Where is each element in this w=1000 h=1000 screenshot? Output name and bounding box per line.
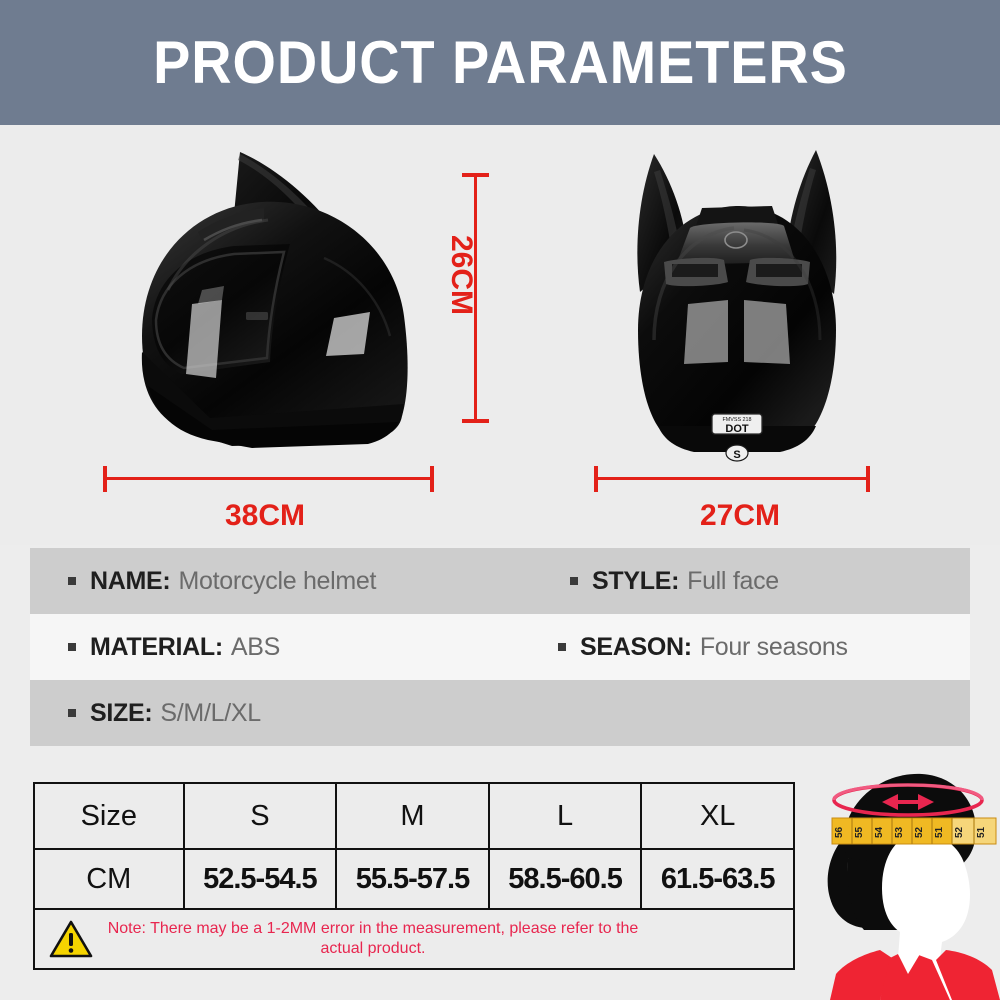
dimension-width-rear-label: 27CM — [700, 499, 780, 533]
spec-item-size: SIZE: S/M/L/XL — [68, 699, 261, 728]
spec-item-material: MATERIAL: ABS — [68, 633, 280, 662]
bullet-icon — [570, 577, 578, 585]
measurement-note-text: Note: There may be a 1-2MM error in the … — [93, 919, 793, 959]
spec-value-style: Full face — [687, 567, 779, 596]
table-row-note: Note: There may be a 1-2MM error in the … — [34, 909, 794, 969]
table-cell-size-s: S — [184, 783, 337, 849]
table-cell-size-l: L — [489, 783, 642, 849]
measuring-tape: 56 55 54 53 52 51 52 51 — [832, 818, 996, 844]
table-cell-size-m: M — [336, 783, 489, 849]
table-cell-note: Note: There may be a 1-2MM error in the … — [34, 909, 794, 969]
table-cell-cm-label: CM — [34, 849, 184, 909]
table-cell-size-label: Size — [34, 783, 184, 849]
spec-value-material: ABS — [231, 633, 280, 662]
bullet-icon — [558, 643, 566, 651]
table-row-measurements: CM 52.5-54.5 55.5-57.5 58.5-60.5 61.5-63… — [34, 849, 794, 909]
spec-row-1: NAME: Motorcycle helmet STYLE: Full face — [30, 548, 970, 614]
svg-text:52: 52 — [954, 826, 965, 838]
spec-item-name: NAME: Motorcycle helmet — [68, 567, 376, 596]
helmet-pad-right — [744, 300, 790, 364]
spec-item-style: STYLE: Full face — [570, 567, 779, 596]
spec-value-name: Motorcycle helmet — [178, 567, 376, 596]
svg-text:54: 54 — [874, 826, 885, 838]
product-image-area: FMVSS 218 DOT S 26CM 38CM 27CM — [0, 125, 1000, 545]
bullet-icon — [68, 577, 76, 585]
spec-value-size: S/M/L/XL — [160, 699, 260, 728]
spec-row-2: MATERIAL: ABS SEASON: Four seasons — [30, 614, 970, 680]
svg-text:51: 51 — [976, 826, 987, 838]
svg-text:DOT: DOT — [725, 423, 749, 435]
spec-key-style: STYLE: — [592, 567, 679, 596]
table-row-header: Size S M L XL — [34, 783, 794, 849]
bullet-icon — [68, 709, 76, 717]
svg-text:55: 55 — [854, 826, 865, 838]
header-bar: PRODUCT PARAMETERS — [0, 0, 1000, 125]
page-title: PRODUCT PARAMETERS — [153, 28, 848, 97]
motorcycle-helmet-side-view — [112, 140, 432, 470]
spec-row-3: SIZE: S/M/L/XL — [30, 680, 970, 746]
svg-text:56: 56 — [834, 826, 845, 838]
size-badge-s: S — [726, 445, 748, 461]
dot-certification-sticker: FMVSS 218 DOT — [712, 414, 762, 435]
svg-text:53: 53 — [894, 826, 905, 838]
head-measurement-diagram: 56 55 54 53 52 51 52 51 — [812, 762, 1000, 1000]
bullet-icon — [68, 643, 76, 651]
warning-triangle-icon — [49, 919, 93, 959]
svg-text:52: 52 — [914, 826, 925, 838]
svg-text:S: S — [733, 449, 740, 461]
spec-item-season: SEASON: Four seasons — [558, 633, 848, 662]
spec-key-season: SEASON: — [580, 633, 692, 662]
spec-key-material: MATERIAL: — [90, 633, 223, 662]
dimension-width-side-label: 38CM — [225, 499, 305, 533]
motorcycle-helmet-rear-view: FMVSS 218 DOT S — [592, 140, 882, 470]
table-cell-size-xl: XL — [641, 783, 794, 849]
svg-text:51: 51 — [934, 826, 945, 838]
table-cell-cm-s: 52.5-54.5 — [184, 849, 337, 909]
helmet-pad-left — [684, 300, 728, 364]
spec-key-size: SIZE: — [90, 699, 152, 728]
spec-key-name: NAME: — [90, 567, 170, 596]
table-cell-cm-m: 55.5-57.5 — [336, 849, 489, 909]
table-cell-cm-xl: 61.5-63.5 — [641, 849, 794, 909]
spec-value-season: Four seasons — [700, 633, 848, 662]
size-chart-table: Size S M L XL CM 52.5-54.5 55.5-57.5 58.… — [33, 782, 795, 970]
dimension-height-label: 26CM — [444, 235, 478, 315]
specifications-block: NAME: Motorcycle helmet STYLE: Full face… — [30, 548, 970, 746]
table-cell-cm-l: 58.5-60.5 — [489, 849, 642, 909]
